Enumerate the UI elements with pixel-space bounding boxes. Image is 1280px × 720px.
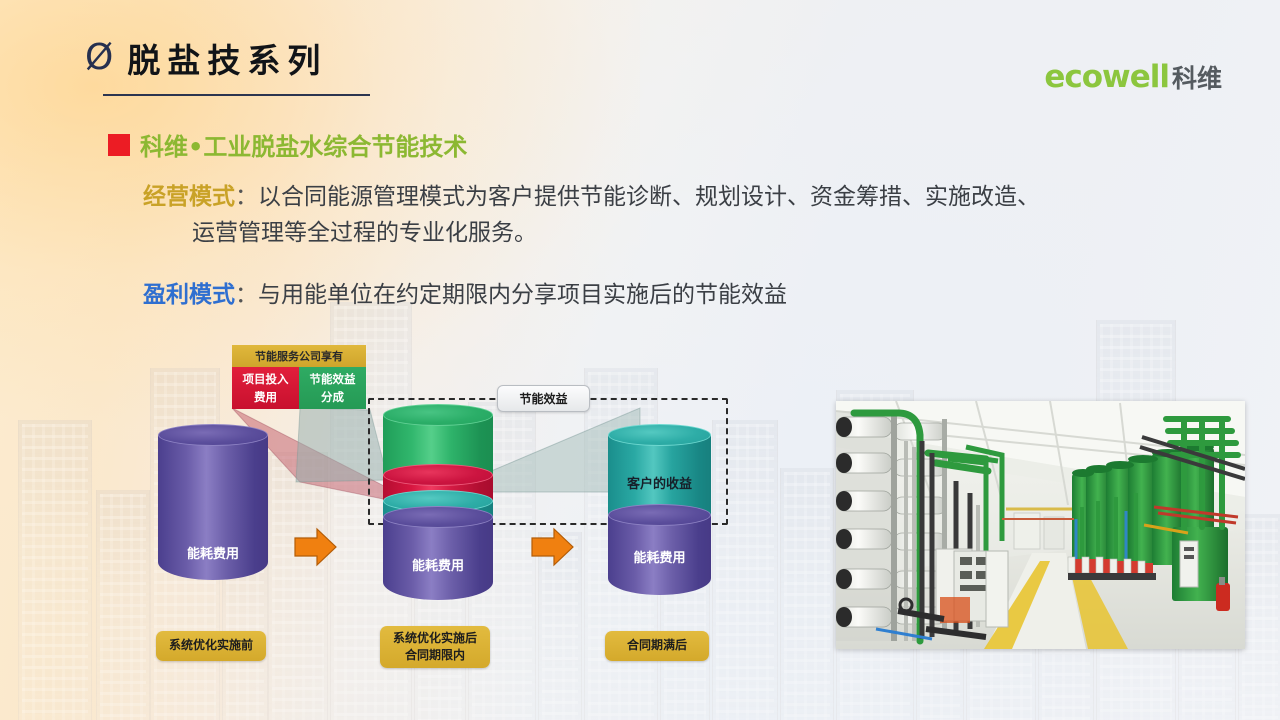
section-headline: 科维•工业脱盐水综合节能技术 <box>108 127 467 162</box>
cylinder-after-teal-cap <box>608 424 711 446</box>
esco-investment-line-2: 费用 <box>254 389 277 405</box>
caption-after: 合同期满后 <box>605 631 709 661</box>
cylinder-before: 能耗费用 <box>158 435 268 580</box>
paragraph-business-model: 经营模式：以合同能源管理模式为客户提供节能诊断、规划设计、资金筹措、实施改造、 … <box>143 180 1233 251</box>
caption-before-line-1: 系统优化实施前 <box>169 637 253 654</box>
section-headline-label: 科维•工业脱盐水综合节能技术 <box>140 127 467 162</box>
diameter-icon: Ø <box>85 40 113 76</box>
arrow-2-icon <box>528 526 576 568</box>
esco-savings-line-2: 分成 <box>321 389 344 405</box>
energy-benefit-tag: 节能效益 <box>497 385 590 412</box>
brand-name-chinese: 科维 <box>1172 59 1222 95</box>
cylinder-during-purple-cap <box>383 506 493 528</box>
caption-during: 系统优化实施后 合同期限内 <box>380 626 490 668</box>
paragraph-1-colon: ： <box>235 184 258 210</box>
title-underline <box>103 94 370 96</box>
cylinder-during-label: 能耗费用 <box>383 555 493 574</box>
esco-header-label: 节能服务公司享有 <box>232 345 366 367</box>
caption-after-line-1: 合同期满后 <box>627 637 687 654</box>
cylinder-during-red-cap <box>383 464 493 486</box>
paragraph-1-lead: 经营模式 <box>143 184 235 210</box>
slide-root: Ø 脱盐技系列 ecowell 科维 科维•工业脱盐水综合节能技术 经营模式：以… <box>0 0 1280 720</box>
esco-investment-line-1: 项目投入 <box>243 371 289 387</box>
arrow-1-icon <box>291 526 339 568</box>
brand-name-latin: ecowell <box>1044 59 1169 95</box>
paragraph-1-line-1: 以合同能源管理模式为客户提供节能诊断、规划设计、资金筹措、实施改造、 <box>258 184 1040 210</box>
plant-photo <box>836 401 1245 649</box>
esco-savings-line-1: 节能效益 <box>310 371 356 387</box>
cylinder-during-contract: 能耗费用 <box>383 415 493 600</box>
caption-during-line-1: 系统优化实施后 <box>393 630 477 647</box>
paragraph-1-line-2: 运营管理等全过程的专业化服务。 <box>192 216 1233 252</box>
esco-savings-share-cell: 节能效益 分成 <box>299 367 366 409</box>
slide-header: Ø 脱盐技系列 <box>85 34 327 82</box>
paragraph-2-lead: 盈利模式 <box>143 282 235 308</box>
paragraph-profit-model: 盈利模式：与用能单位在约定期限内分享项目实施后的节能效益 <box>143 278 1143 314</box>
caption-during-line-2: 合同期限内 <box>405 647 465 664</box>
cylinder-during-green-cap <box>383 404 493 426</box>
caption-before: 系统优化实施前 <box>156 631 266 661</box>
esco-investment-cell: 项目投入 费用 <box>232 367 299 409</box>
red-square-bullet-icon <box>108 134 130 156</box>
paragraph-2-line-1: 与用能单位在约定期限内分享项目实施后的节能效益 <box>258 282 787 308</box>
brand-logo: ecowell 科维 <box>1044 59 1222 95</box>
page-title: 脱盐技系列 <box>127 34 327 82</box>
cylinder-after-bottom-label: 能耗费用 <box>608 547 711 566</box>
cylinder-after-contract: 客户的收益 能耗费用 <box>608 435 711 595</box>
esco-share-box: 节能服务公司享有 项目投入 费用 节能效益 分成 <box>232 345 366 409</box>
cylinder-after-top-label: 客户的收益 <box>608 473 711 492</box>
cylinder-before-cap <box>158 424 268 446</box>
cylinder-after-purple-cap <box>608 504 711 526</box>
paragraph-2-colon: ： <box>235 282 258 308</box>
cylinder-before-label: 能耗费用 <box>158 543 268 562</box>
